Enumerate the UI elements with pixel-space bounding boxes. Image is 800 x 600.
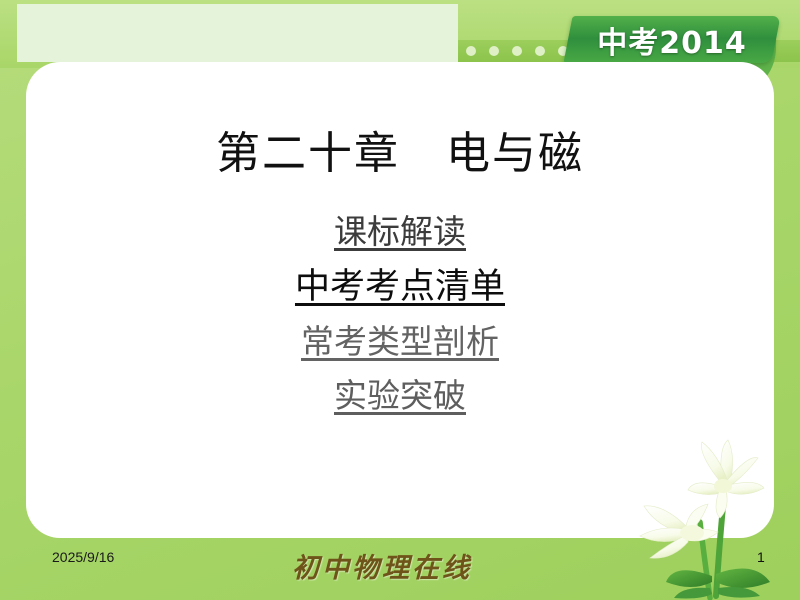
exam-year-banner: 中考2014 xyxy=(563,16,780,63)
decorative-dot xyxy=(512,46,522,56)
decorative-dot xyxy=(535,46,545,56)
site-watermark: 初中物理在线 xyxy=(272,543,492,587)
decorative-dot xyxy=(489,46,499,56)
slide: 中考2014 第二十章 电与磁 课标解读 中考考点清单 常考类型剖析 实验突破 xyxy=(0,0,800,600)
header-mint-panel xyxy=(17,4,458,62)
banner-label: 中考2014 xyxy=(597,18,747,62)
toc-link-changkaoleixing[interactable]: 常考类型剖析 xyxy=(0,324,800,361)
toc-link-zhongkaokaodian[interactable]: 中考考点清单 xyxy=(0,268,800,307)
toc-list: 课标解读 中考考点清单 常考类型剖析 实验突破 xyxy=(0,214,800,432)
footer-date: 2025/9/16 xyxy=(52,549,114,565)
page-title: 第二十章 电与磁 xyxy=(0,117,800,181)
decorative-dot xyxy=(466,46,476,56)
toc-link-shiyantupo[interactable]: 实验突破 xyxy=(0,378,800,415)
toc-link-kebiaojiedu[interactable]: 课标解读 xyxy=(0,214,800,251)
page-number: 1 xyxy=(757,549,765,565)
